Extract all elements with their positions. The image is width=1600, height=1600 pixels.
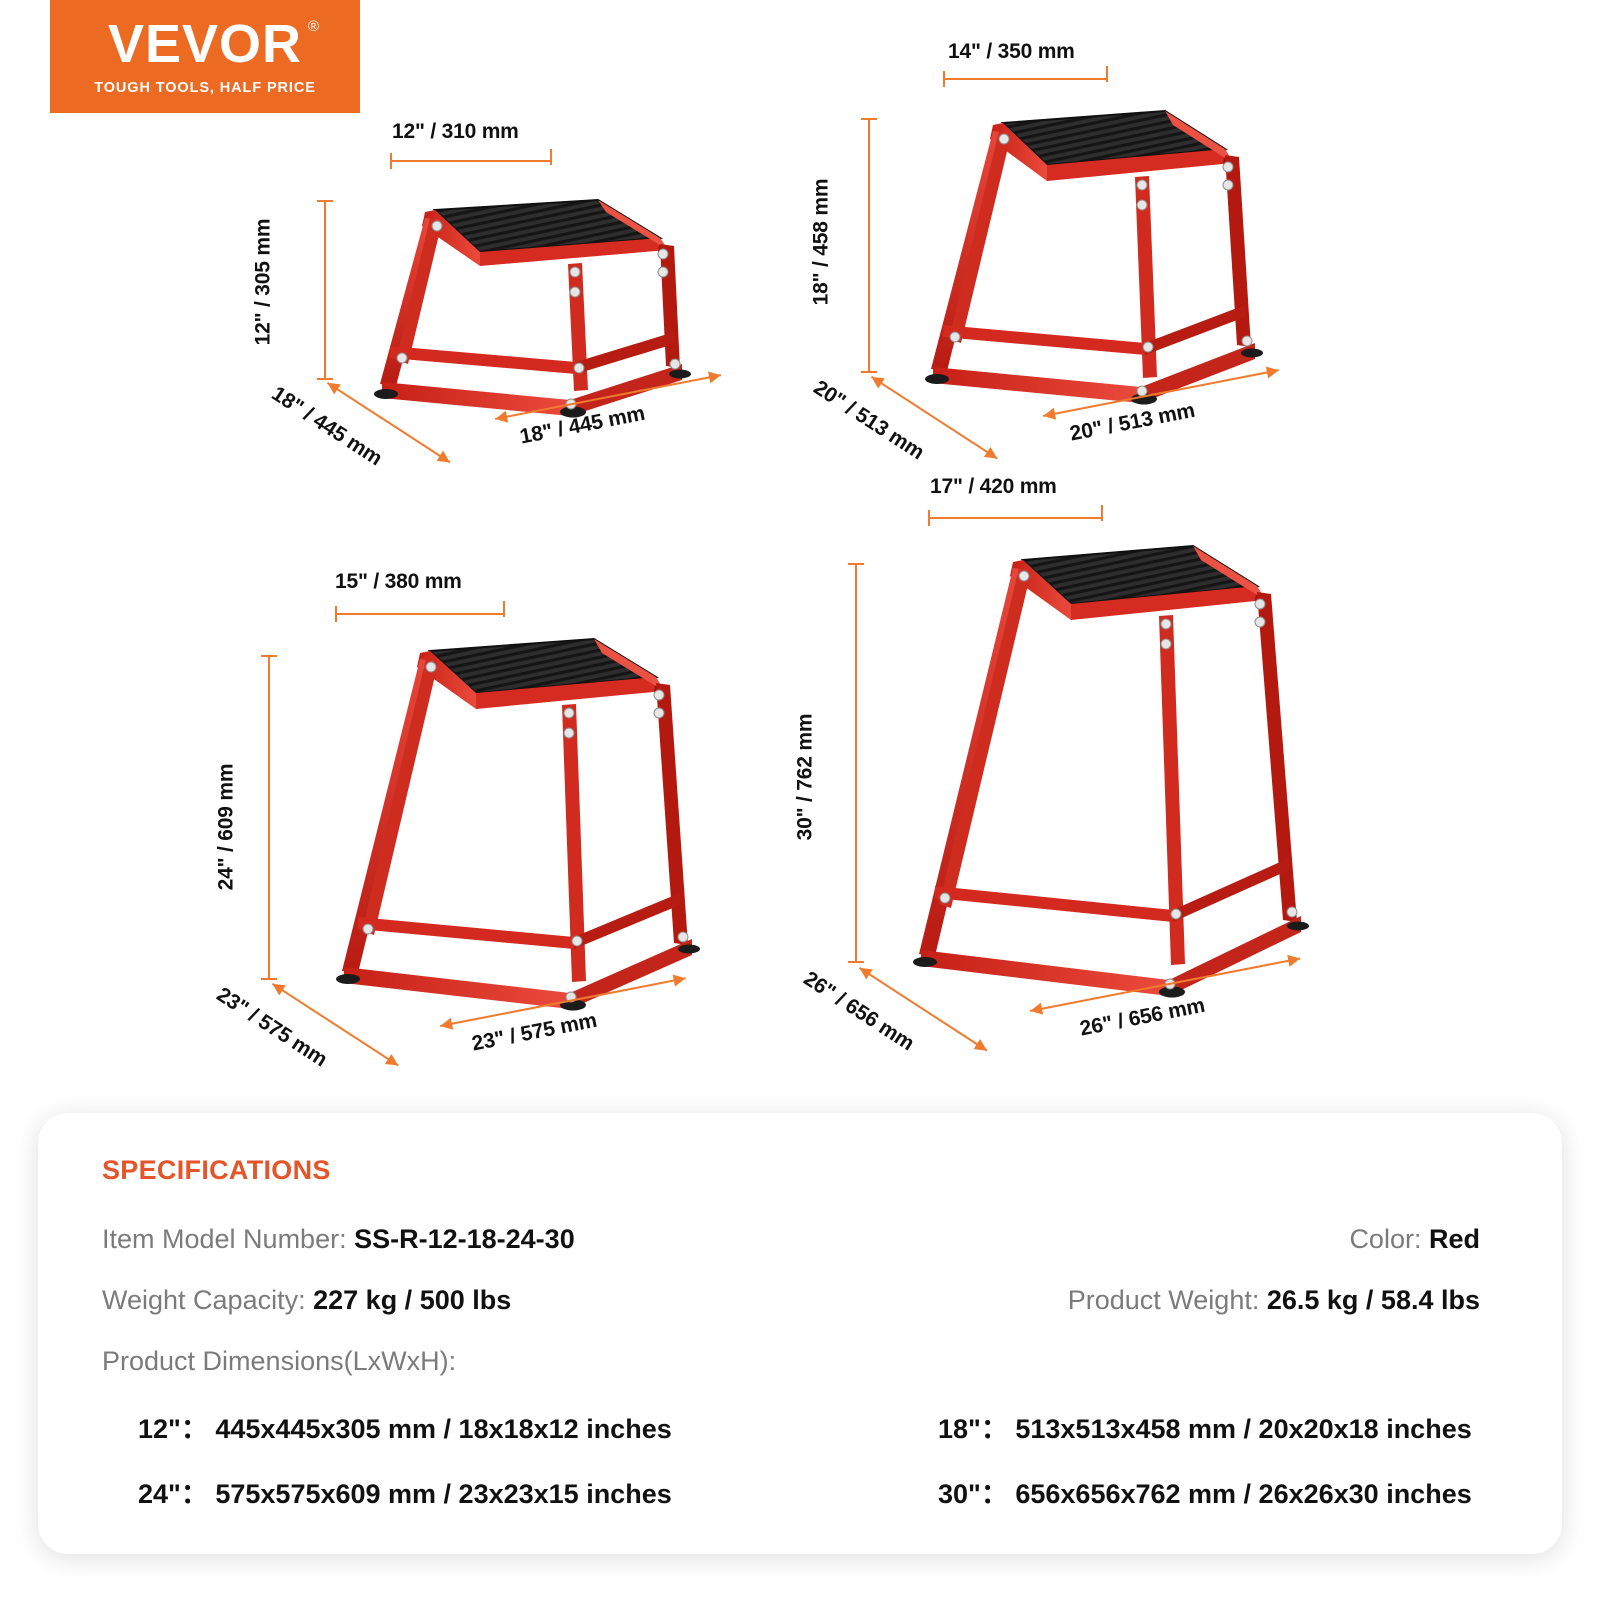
spec-dimension-size-12: 12"： [138, 1407, 208, 1446]
dimension-cap-left-24 [335, 606, 337, 622]
spec-row-color: Color: Red [1349, 1226, 1480, 1253]
spec-label-model: Item Model Number: [102, 1224, 347, 1254]
plyo-box-illustration-30 [905, 520, 1405, 1080]
spec-dimension-value-30: 656x656x762 mm / 26x26x30 inches [1015, 1479, 1471, 1509]
dimension-line-height-12 [324, 200, 326, 380]
dimension-line-top-width-18 [943, 78, 1108, 80]
spec-label-color: Color: [1349, 1224, 1421, 1254]
dimension-cap-left-12 [390, 153, 392, 169]
dimension-line-top-width-12 [390, 160, 552, 162]
spec-value-color: Red [1429, 1224, 1480, 1254]
brand-logo: VEVOR ® TOUGH TOOLS, HALF PRICE [50, 0, 360, 113]
specifications-heading: SPECIFICATIONS [102, 1155, 331, 1186]
dimension-line-top-width-24 [335, 613, 505, 615]
brand-tagline: TOUGH TOOLS, HALF PRICE [94, 80, 316, 96]
dimension-cap-left-30 [928, 510, 930, 526]
registered-trademark-icon: ® [308, 19, 320, 34]
plyo-box-illustration-24 [320, 615, 760, 1085]
dimension-cap-top-30 [848, 563, 864, 565]
product-figure-24: 15" / 380 mm 24" / 609 mm 23" / 575 mm 2… [225, 565, 785, 1095]
dimension-label-depth-30: 26" / 656 mm [799, 967, 918, 1056]
spec-label-product-weight: Product Weight: [1068, 1285, 1260, 1315]
spec-dimension-size-30: 30"： [938, 1472, 1008, 1511]
spec-dimension-size-18: 18"： [938, 1407, 1008, 1446]
spec-label-dimensions: Product Dimensions(LxWxH): [102, 1348, 456, 1375]
spec-dimension-row-12: 12"： 445x445x305 mm / 18x18x12 inches [138, 1407, 672, 1446]
spec-dimension-value-18: 513x513x458 mm / 20x20x18 inches [1015, 1414, 1471, 1444]
dimension-label-top-width-30: 17" / 420 mm [930, 475, 1057, 499]
dimension-label-height-24: 24" / 609 mm [214, 764, 238, 891]
dimension-cap-right-24 [503, 601, 505, 617]
spec-dimension-row-18: 18"： 513x513x458 mm / 20x20x18 inches [938, 1407, 1472, 1446]
spec-value-capacity: 227 kg / 500 lbs [313, 1285, 511, 1315]
dimension-line-height-30 [855, 563, 857, 963]
spec-dimension-size-24: 24"： [138, 1472, 208, 1511]
brand-name-wrap: VEVOR ® [108, 17, 302, 71]
spec-dimension-row-30: 30"： 656x656x762 mm / 26x26x30 inches [938, 1472, 1472, 1511]
dimension-cap-top-24 [261, 655, 277, 657]
product-figure-12: 12" / 310 mm 12" / 305 mm 18" / 445 mm 1… [250, 120, 770, 470]
dimension-cap-right-18 [1106, 66, 1108, 82]
dimension-label-top-width-24: 15" / 380 mm [335, 570, 462, 594]
brand-name: VEVOR [108, 14, 302, 74]
product-spec-sheet: VEVOR ® TOUGH TOOLS, HALF PRICE [0, 0, 1600, 1600]
dimension-line-height-18 [868, 118, 870, 373]
dimension-cap-top-18 [861, 118, 877, 120]
dimension-cap-left-18 [943, 71, 945, 87]
spec-dimension-row-24: 24"： 575x575x609 mm / 23x23x15 inches [138, 1472, 672, 1511]
spec-value-product-weight: 26.5 kg / 58.4 lbs [1267, 1285, 1480, 1315]
dimension-label-height-18: 18" / 458 mm [809, 179, 833, 306]
dimension-label-height-30: 30" / 762 mm [793, 714, 817, 841]
dimension-cap-right-30 [1101, 505, 1103, 521]
spec-row-model: Item Model Number: SS-R-12-18-24-30 [102, 1226, 575, 1253]
plyo-box-illustration-18 [895, 85, 1335, 455]
spec-row-capacity: Weight Capacity: 227 kg / 500 lbs [102, 1287, 511, 1314]
product-figure-30: 17" / 420 mm 30" / 762 mm 26" / 656 mm 2… [800, 475, 1440, 1095]
spec-value-model: SS-R-12-18-24-30 [354, 1224, 575, 1254]
product-figure-18: 14" / 350 mm 18" / 458 mm 20" / 513 mm 2… [800, 40, 1360, 460]
dimension-line-top-width-30 [928, 517, 1103, 519]
specifications-panel: SPECIFICATIONS Item Model Number: SS-R-1… [38, 1113, 1562, 1554]
dimension-label-depth-24: 23" / 575 mm [212, 983, 331, 1072]
spec-dimension-value-12: 445x445x305 mm / 18x18x12 inches [215, 1414, 671, 1444]
spec-dimension-value-24: 575x575x609 mm / 23x23x15 inches [215, 1479, 671, 1509]
dimension-line-height-24 [268, 655, 270, 980]
dimension-label-top-width-18: 14" / 350 mm [948, 40, 1075, 64]
dimension-label-height-12: 12" / 305 mm [251, 219, 275, 346]
dimension-label-top-width-12: 12" / 310 mm [392, 120, 519, 144]
dimension-cap-right-12 [550, 149, 552, 165]
spec-label-capacity: Weight Capacity: [102, 1285, 306, 1315]
dimension-cap-top-12 [317, 200, 333, 202]
spec-row-product-weight: Product Weight: 26.5 kg / 58.4 lbs [1068, 1287, 1480, 1314]
